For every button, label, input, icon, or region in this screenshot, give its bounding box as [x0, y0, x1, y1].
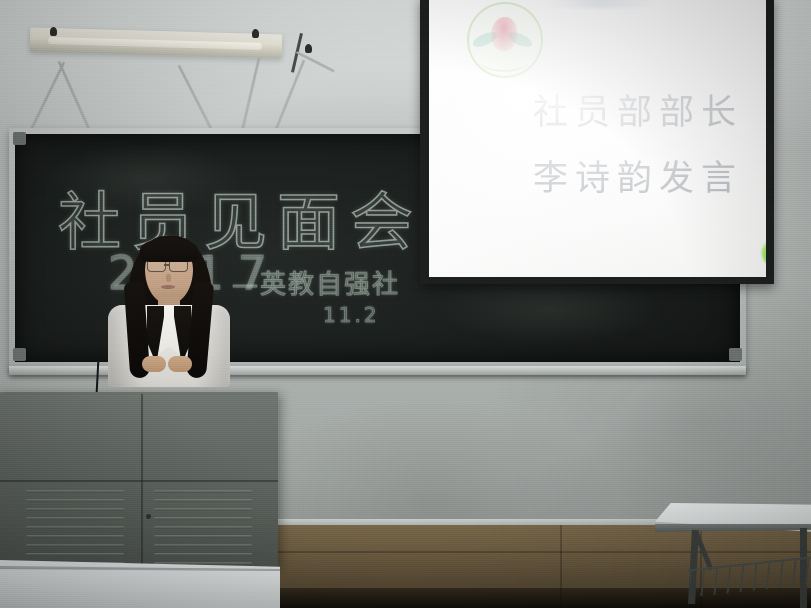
mouth — [161, 285, 175, 289]
vent-slat — [26, 553, 124, 556]
lectern-lock[interactable] — [146, 514, 151, 519]
classroom-photo: 社员见面会 2017 —英教自强社 11.2 社员部部长 李诗韵发言 — [0, 0, 811, 608]
vent-slat — [26, 526, 124, 529]
nose — [166, 274, 171, 282]
glasses-bridge — [164, 264, 169, 266]
lamp-tube — [48, 37, 262, 50]
vent-slat — [26, 544, 124, 547]
vent-slat — [154, 553, 252, 556]
vent-slat — [26, 535, 124, 538]
vent-slat — [154, 499, 252, 502]
vent-slat — [154, 526, 252, 529]
vent-slat — [26, 490, 124, 493]
slide-line-1: 社员部部长 — [533, 84, 743, 135]
lamp-mount-hook — [252, 29, 259, 38]
slide-accent-dot — [762, 240, 766, 266]
blackboard-subtitle: —英教自强社 — [232, 264, 400, 301]
club-emblem-icon — [467, 2, 543, 78]
blackboard-date: 11.2 — [323, 303, 380, 327]
blackboard-corner-bracket — [13, 132, 26, 145]
vent-slat — [26, 508, 124, 511]
slide-line-2: 李诗韵发言 — [533, 150, 743, 201]
vent-slat — [154, 544, 252, 547]
hand-right — [168, 356, 192, 372]
vent-slat — [154, 508, 252, 511]
hair-fringe — [140, 238, 198, 262]
speaker — [100, 232, 240, 382]
lectern-cabinet[interactable] — [0, 394, 278, 570]
lectern-panel-divider — [141, 394, 143, 570]
chalk-smudge — [435, 274, 665, 344]
vent-slat — [26, 517, 124, 520]
lectern-seam — [0, 480, 278, 482]
emblem-figure — [491, 17, 517, 51]
slide-faded-header — [545, 0, 655, 8]
vent-slat — [26, 499, 124, 502]
blackboard-corner-bracket — [13, 348, 26, 361]
emblem-arc — [479, 48, 529, 72]
vent-slat — [154, 490, 252, 493]
vent-slat — [154, 535, 252, 538]
blackboard-corner-bracket — [729, 348, 742, 361]
vent-slat — [154, 517, 252, 520]
projection-screen: 社员部部长 李诗韵发言 — [429, 0, 766, 277]
hand-left — [142, 356, 166, 372]
lamp-mount-hook — [305, 44, 312, 53]
lamp-mount-hook — [50, 27, 57, 36]
